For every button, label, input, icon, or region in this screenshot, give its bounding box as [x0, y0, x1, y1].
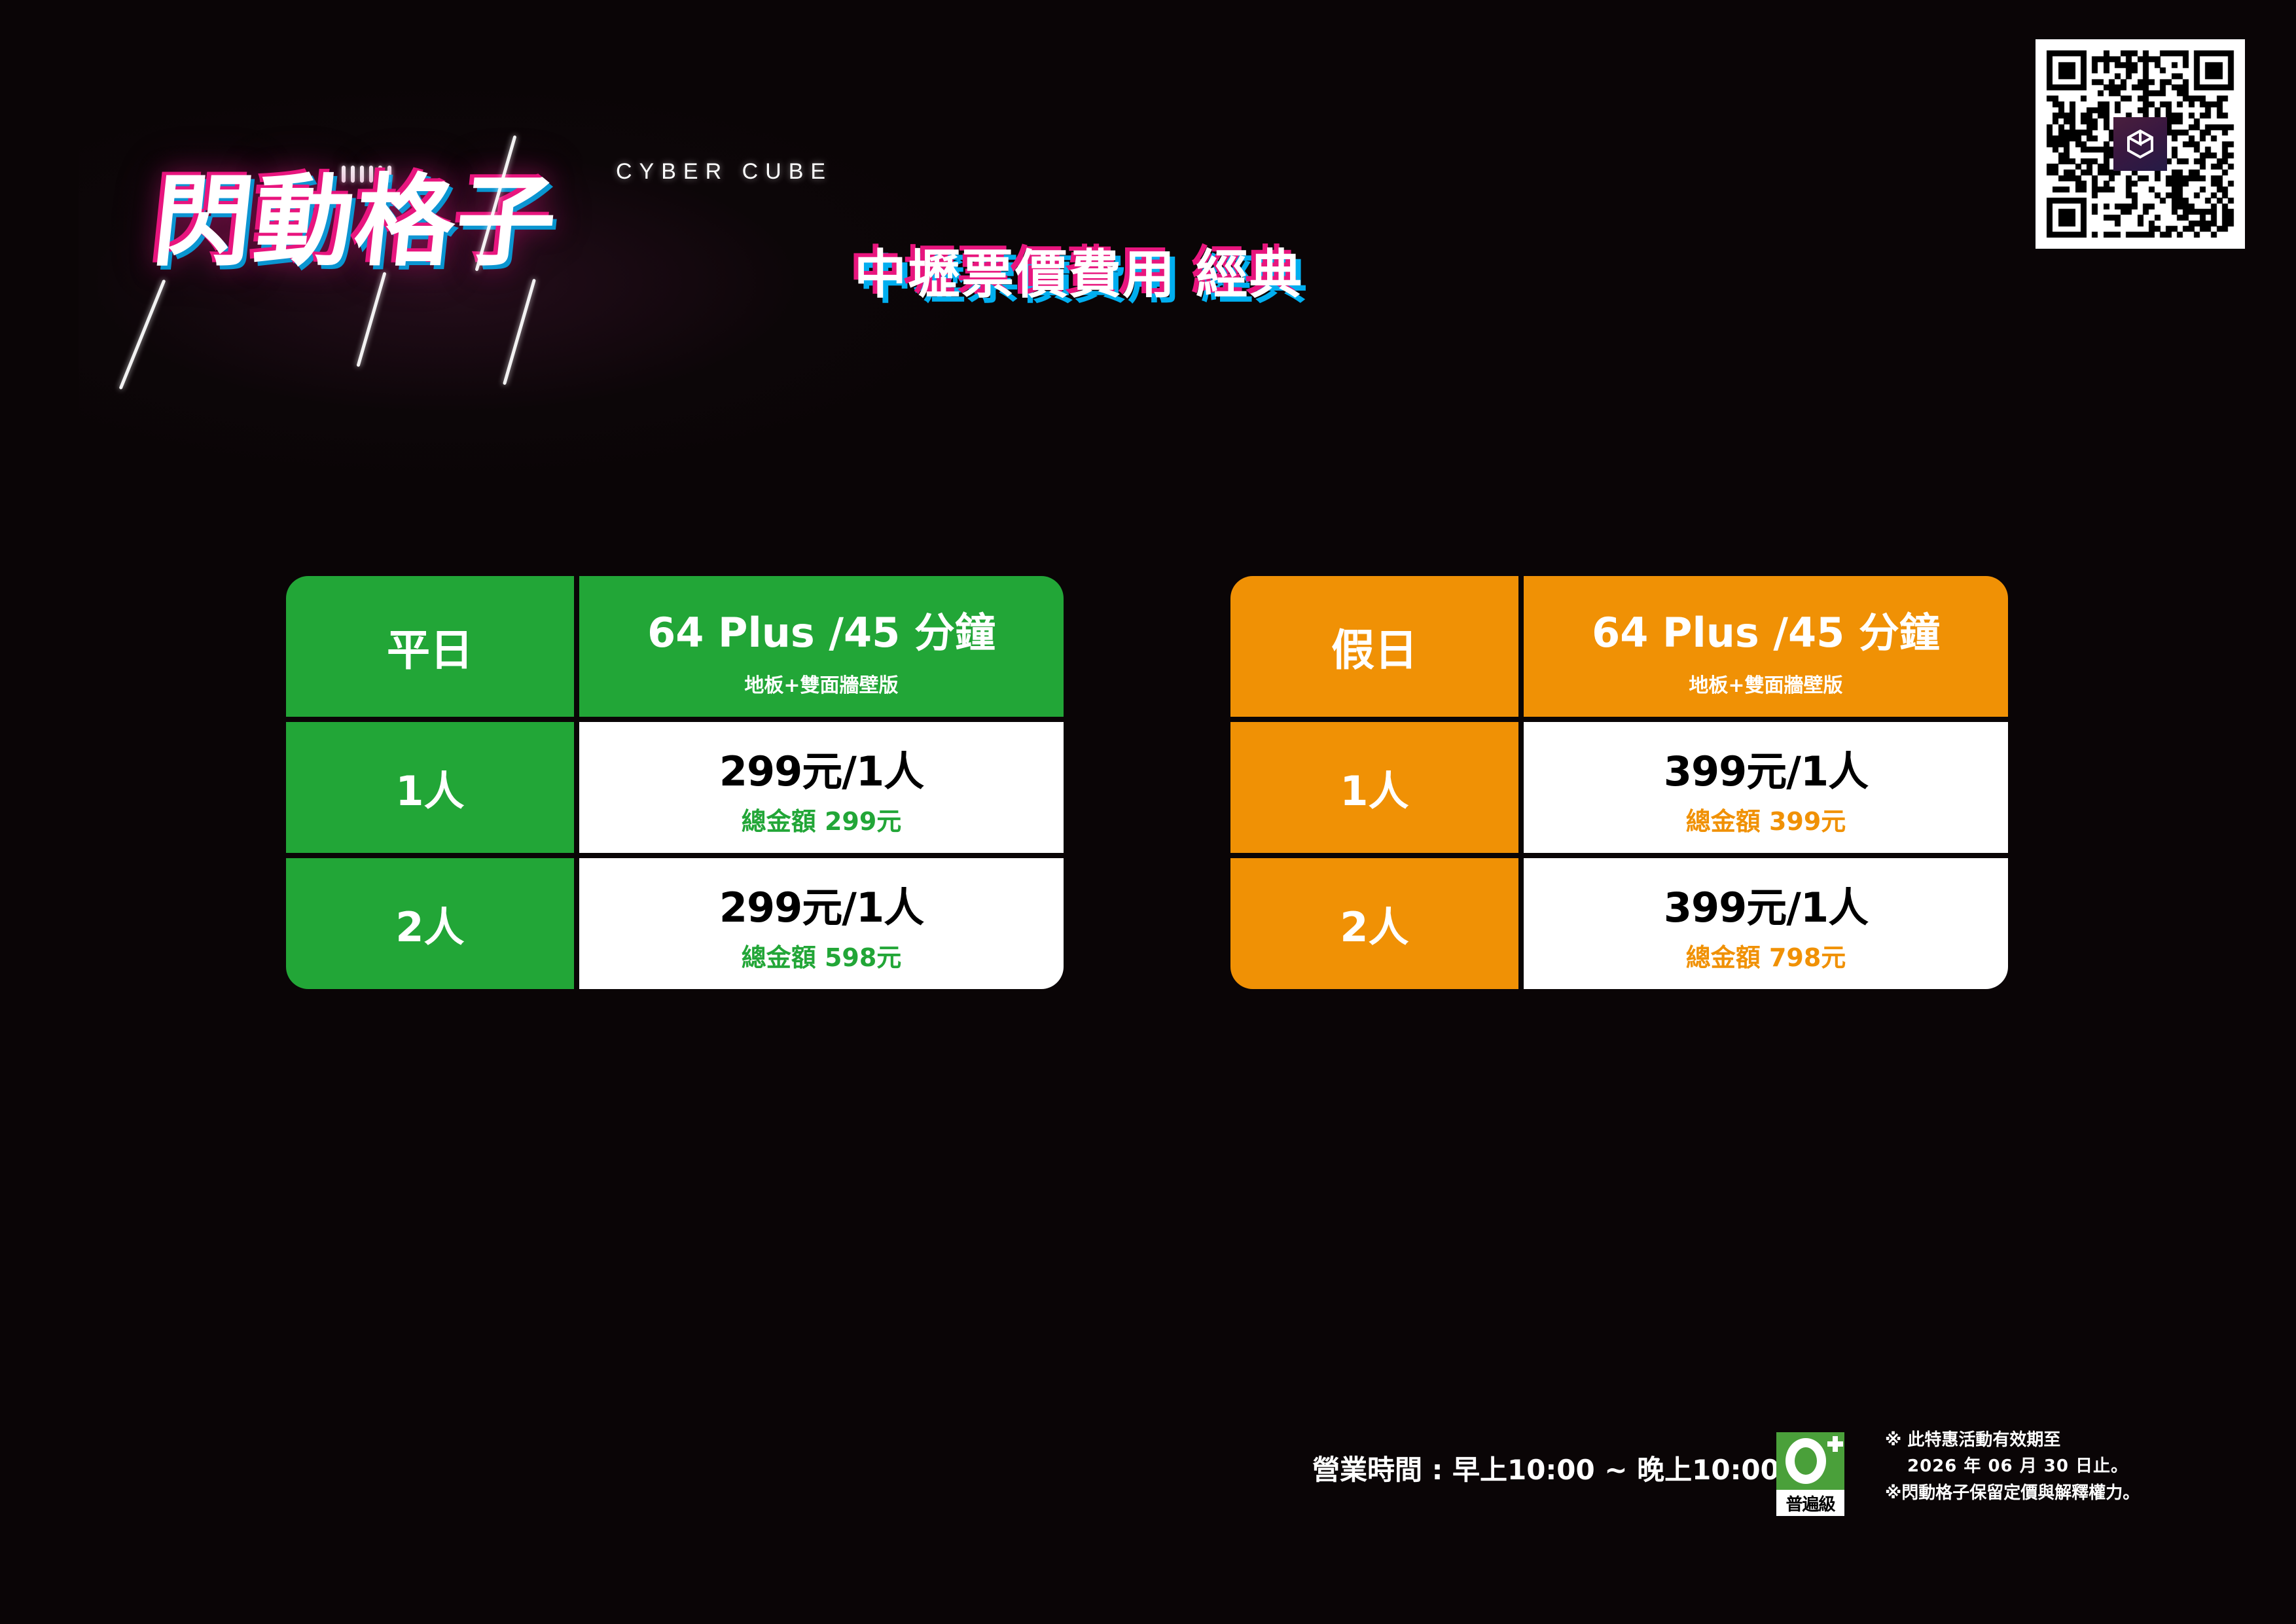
total-price: 總金額 798元 [1686, 937, 1846, 973]
disclaimer-line-1: ※ 此特惠活動有效期至 [1885, 1427, 2160, 1453]
content-rating-badge: 普遍級 [1776, 1432, 1844, 1516]
row-label-people: 2人 [1230, 858, 1518, 989]
total-price: 總金額 399元 [1686, 801, 1846, 837]
plan-name: 64 Plus /45 分鐘 [1592, 600, 1940, 659]
pricing-table-holiday: 假日 64 Plus /45 分鐘 地板+雙面牆壁版 1人 399元/1人 總金… [1230, 576, 2008, 989]
plan-name: 64 Plus /45 分鐘 [647, 600, 996, 659]
row-price-cell: 299元/1人 總金額 598元 [579, 858, 1064, 989]
total-price: 總金額 299元 [742, 801, 902, 837]
logo-slash-2 [356, 272, 386, 367]
table-row: 2人 399元/1人 總金額 798元 [1230, 858, 2008, 989]
plan-subtitle: 地板+雙面牆壁版 [744, 669, 898, 698]
table-header-row: 平日 64 Plus /45 分鐘 地板+雙面牆壁版 [286, 576, 1064, 717]
disclaimer-line-2: 2026 年 06 月 30 日止。 [1885, 1453, 2160, 1479]
business-hours: 營業時間 : 早上10:00 ~ 晚上10:00 [1312, 1448, 1780, 1488]
table-row: 2人 299元/1人 總金額 598元 [286, 858, 1064, 989]
table-header-plan: 64 Plus /45 分鐘 地板+雙面牆壁版 [1524, 576, 2008, 717]
brand-logo-subtext: CYBER CUBE [616, 159, 833, 185]
cube-icon [2125, 128, 2156, 160]
table-header-label: 平日 [286, 576, 574, 717]
brand-logo: CYBER CUBE 閃動格子 [154, 147, 848, 311]
unit-price: 399元/1人 [1664, 875, 1868, 933]
unit-price: 399元/1人 [1664, 738, 1868, 797]
logo-slash-4 [503, 279, 536, 386]
unit-price: 299元/1人 [719, 738, 924, 797]
table-header-plan: 64 Plus /45 分鐘 地板+雙面牆壁版 [579, 576, 1064, 717]
qr-center-logo [2113, 117, 2167, 171]
rating-mark-area [1776, 1432, 1844, 1490]
total-price: 總金額 598元 [742, 937, 902, 973]
disclaimer: ※ 此特惠活動有效期至 2026 年 06 月 30 日止。 ※閃動格子保留定價… [1885, 1427, 2160, 1506]
rating-label: 普遍級 [1776, 1490, 1844, 1516]
page-title: 中壢票價費用 經典 [854, 232, 1303, 308]
table-row: 1人 299元/1人 總金額 299元 [286, 722, 1064, 853]
row-price-cell: 299元/1人 總金額 299元 [579, 722, 1064, 853]
row-price-cell: 399元/1人 總金額 798元 [1524, 858, 2008, 989]
pricing-table-weekday: 平日 64 Plus /45 分鐘 地板+雙面牆壁版 1人 299元/1人 總金… [286, 576, 1064, 989]
qr-code[interactable] [2036, 39, 2245, 249]
plan-subtitle: 地板+雙面牆壁版 [1689, 669, 1842, 698]
logo-slash-1 [118, 280, 166, 390]
row-label-people: 1人 [1230, 722, 1518, 853]
row-price-cell: 399元/1人 總金額 399元 [1524, 722, 2008, 853]
unit-price: 299元/1人 [719, 875, 924, 933]
table-row: 1人 399元/1人 總金額 399元 [1230, 722, 2008, 853]
rating-o-icon [1785, 1438, 1826, 1484]
table-header-row: 假日 64 Plus /45 分鐘 地板+雙面牆壁版 [1230, 576, 2008, 717]
table-header-label: 假日 [1230, 576, 1518, 717]
rating-plus-icon [1827, 1436, 1843, 1452]
disclaimer-line-3: ※閃動格子保留定價與解釋權力。 [1885, 1480, 2160, 1506]
row-label-people: 1人 [286, 722, 574, 853]
row-label-people: 2人 [286, 858, 574, 989]
